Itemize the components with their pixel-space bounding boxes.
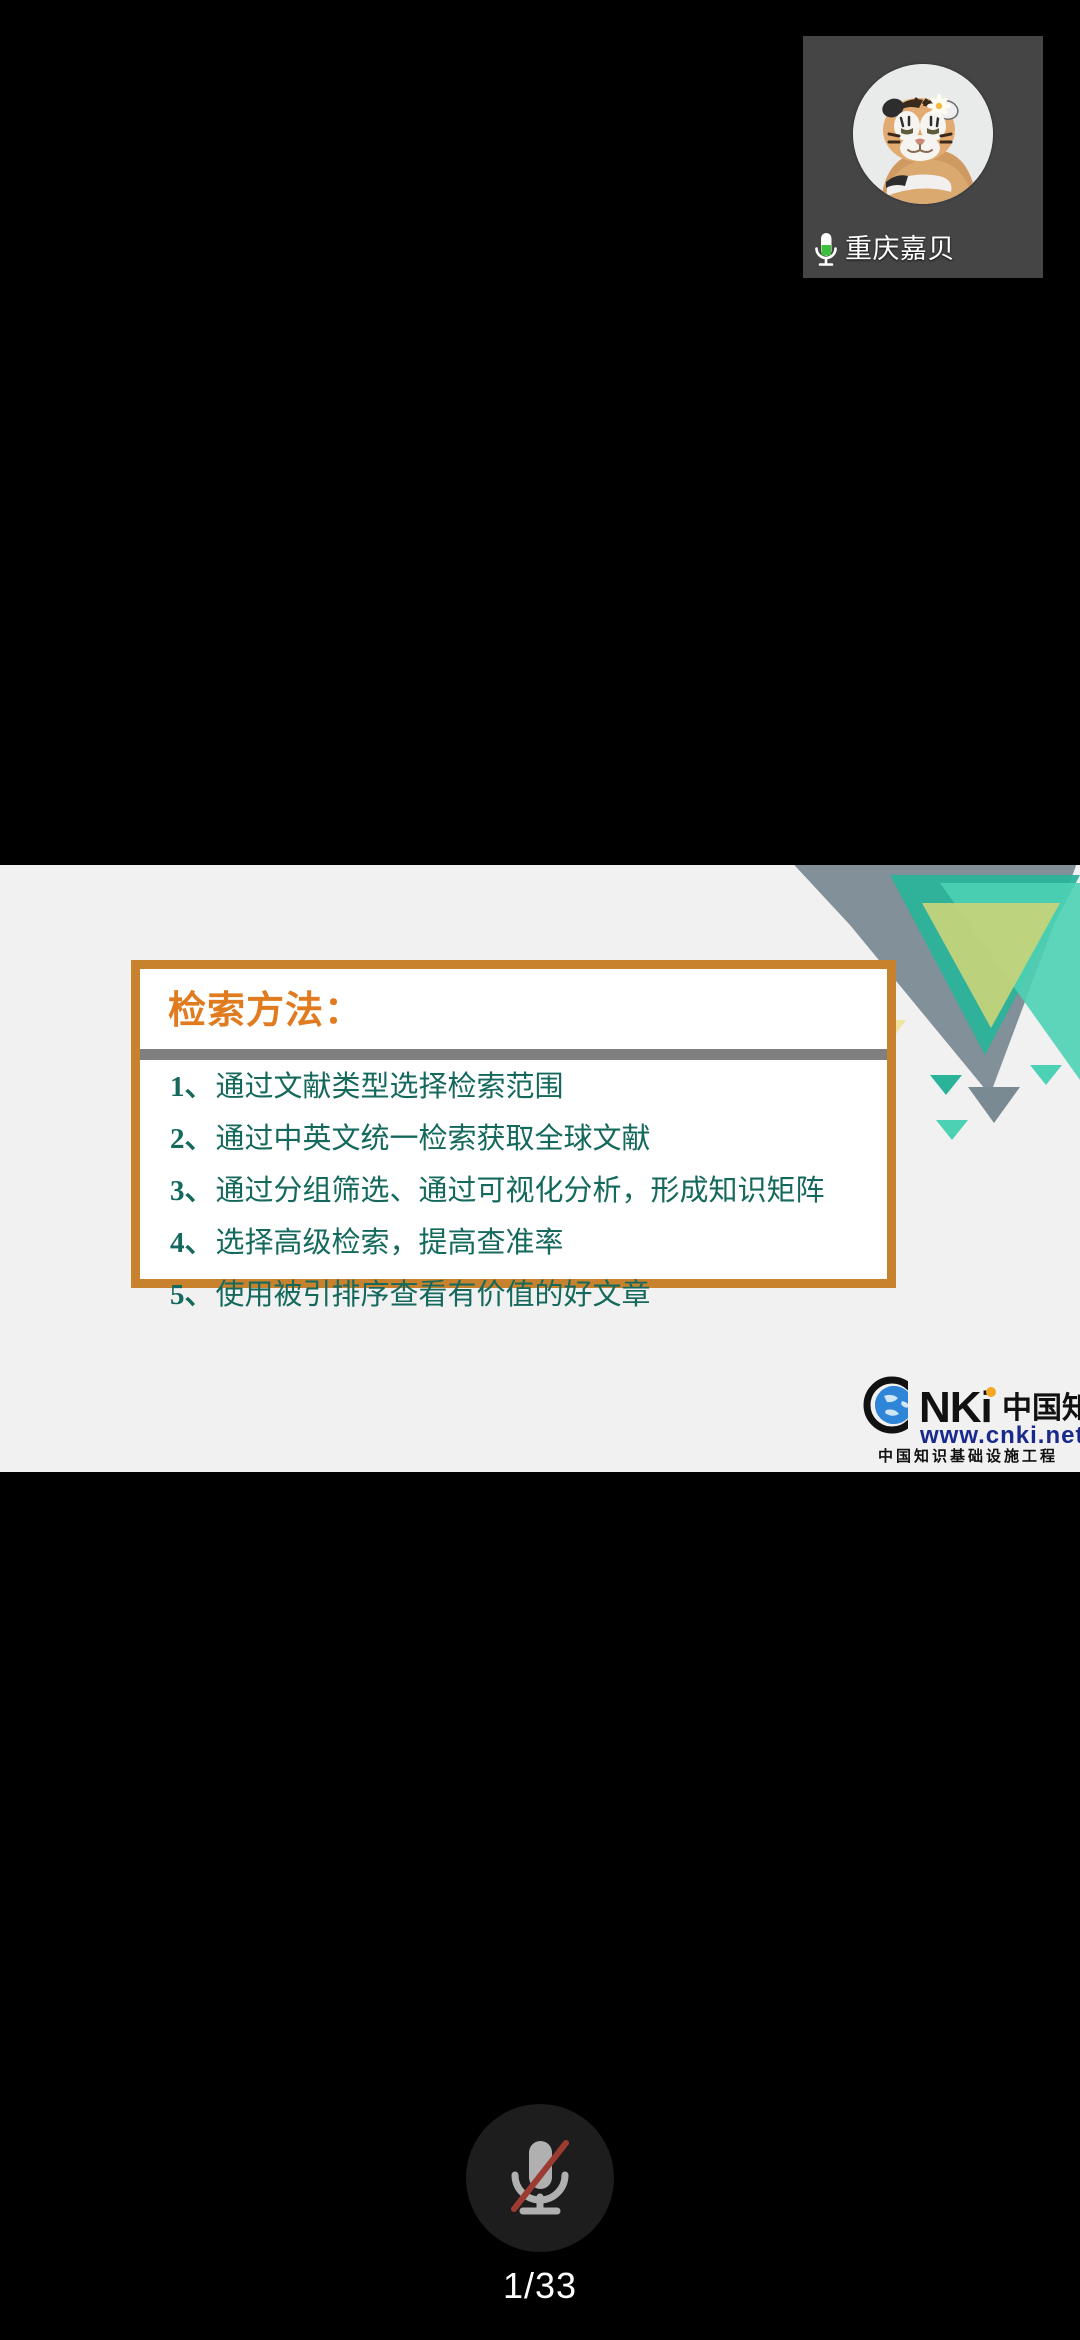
list-item-number: 2、	[170, 1125, 214, 1154]
microphone-off-icon	[504, 2137, 576, 2219]
list-item: 4、 选择高级检索，提高查准率	[170, 1229, 873, 1258]
list-item-number: 3、	[170, 1177, 214, 1206]
title-divider	[140, 1049, 887, 1060]
list-item-number: 5、	[170, 1281, 214, 1310]
slide-title: 检索方法：	[168, 979, 363, 1034]
tile-footer: 重庆嘉贝	[803, 226, 1043, 272]
participant-video-tile[interactable]: 重庆嘉贝	[803, 36, 1043, 278]
microphone-on-icon	[813, 232, 839, 266]
list-item-text: 通过文献类型选择检索范围	[216, 1073, 564, 1102]
svg-text:中国知识基础设施工程: 中国知识基础设施工程	[878, 1447, 1058, 1464]
list-item-text: 选择高级检索，提高查准率	[216, 1229, 564, 1258]
svg-text:www.cnki.net: www.cnki.net	[919, 1422, 1080, 1449]
list-item-text: 使用被引排序查看有价值的好文章	[216, 1281, 651, 1310]
list-item-number: 1、	[170, 1073, 214, 1102]
participant-name: 重庆嘉贝	[845, 236, 955, 263]
list-item-text: 通过中英文统一检索获取全球文献	[216, 1125, 651, 1154]
screen-root: 重庆嘉贝	[0, 0, 1080, 2340]
page-indicator: 1/33	[503, 2268, 577, 2304]
list-item-text: 通过分组筛选、通过可视化分析，形成知识矩阵	[216, 1177, 825, 1206]
list-item-number: 4、	[170, 1229, 214, 1258]
list-item: 2、 通过中英文统一检索获取全球文献	[170, 1125, 873, 1154]
shared-slide[interactable]: 检索方法： 1、 通过文献类型选择检索范围 2、 通过中英文统一检索获取全球文献…	[0, 865, 1080, 1472]
list-item: 5、 使用被引排序查看有价值的好文章	[170, 1281, 873, 1310]
slide-bullet-list: 1、 通过文献类型选择检索范围 2、 通过中英文统一检索获取全球文献 3、 通过…	[170, 1073, 873, 1333]
bottom-controls: 1/33	[0, 2040, 1080, 2340]
svg-text:中国知网: 中国知网	[1002, 1392, 1080, 1425]
slide-content-box: 检索方法： 1、 通过文献类型选择检索范围 2、 通过中英文统一检索获取全球文献…	[131, 960, 896, 1288]
cnki-logo: NKi 中国知网 www.cnki.net 中国知识基础设施工程	[862, 1372, 1080, 1464]
list-item: 3、 通过分组筛选、通过可视化分析，形成知识矩阵	[170, 1177, 873, 1206]
avatar	[853, 64, 993, 204]
list-item: 1、 通过文献类型选择检索范围	[170, 1073, 873, 1102]
microphone-muted-button[interactable]	[466, 2104, 614, 2252]
